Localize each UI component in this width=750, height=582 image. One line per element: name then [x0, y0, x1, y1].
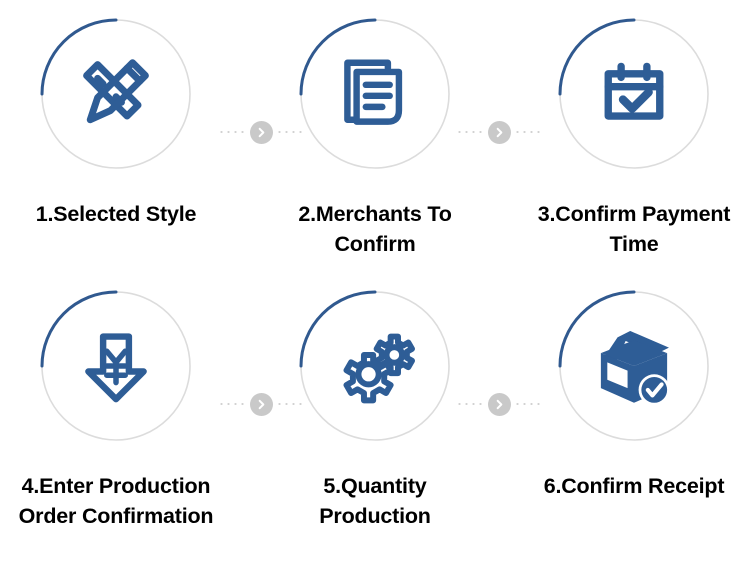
- chevron-right-icon: [488, 121, 511, 144]
- connector-dots-right: [514, 131, 543, 133]
- connector-1-to-2: [218, 120, 304, 144]
- process-step-4[interactable]: 4.Enter Production Order Confirmation: [0, 290, 232, 531]
- connector-dots-left: [218, 131, 247, 133]
- box-check-icon: [588, 320, 680, 412]
- connector-5-to-6: [456, 392, 542, 416]
- calendar-check-icon: [588, 48, 680, 140]
- step-circle-3: [558, 18, 710, 170]
- step-label-6: 6.Confirm Receipt: [518, 472, 750, 502]
- process-step-3[interactable]: 3.Confirm Payment Time: [518, 18, 750, 259]
- documents-stack-icon: [329, 48, 421, 140]
- pencil-ruler-icon: [70, 48, 162, 140]
- step-label-3: 3.Confirm Payment Time: [518, 200, 750, 259]
- chevron-right-icon: [250, 393, 273, 416]
- chevron-right-icon: [250, 121, 273, 144]
- chevron-right-icon: [488, 393, 511, 416]
- step-label-4: 4.Enter Production Order Confirmation: [0, 472, 232, 531]
- step-circle-1: [40, 18, 192, 170]
- connector-2-to-3: [456, 120, 542, 144]
- yuan-download-arrow-icon: [70, 320, 162, 412]
- process-row-bottom: 4.Enter Production Order Confirmation: [0, 290, 750, 562]
- connector-dots-left: [456, 403, 485, 405]
- connector-dots-right: [276, 131, 305, 133]
- step-circle-4: [40, 290, 192, 442]
- step-circle-6: [558, 290, 710, 442]
- step-label-5: 5.Quantity Production: [259, 472, 491, 531]
- connector-4-to-5: [218, 392, 304, 416]
- process-flow-diagram: 1.Selected Style 2.: [0, 0, 750, 582]
- connector-dots-right: [276, 403, 305, 405]
- step-circle-2: [299, 18, 451, 170]
- step-label-1: 1.Selected Style: [0, 200, 232, 230]
- gears-icon: [329, 320, 421, 412]
- step-circle-5: [299, 290, 451, 442]
- process-step-6[interactable]: 6.Confirm Receipt: [518, 290, 750, 502]
- process-step-1[interactable]: 1.Selected Style: [0, 18, 232, 230]
- process-row-top: 1.Selected Style 2.: [0, 18, 750, 290]
- connector-dots-right: [514, 403, 543, 405]
- step-label-2: 2.Merchants To Confirm: [259, 200, 491, 259]
- connector-dots-left: [456, 131, 485, 133]
- connector-dots-left: [218, 403, 247, 405]
